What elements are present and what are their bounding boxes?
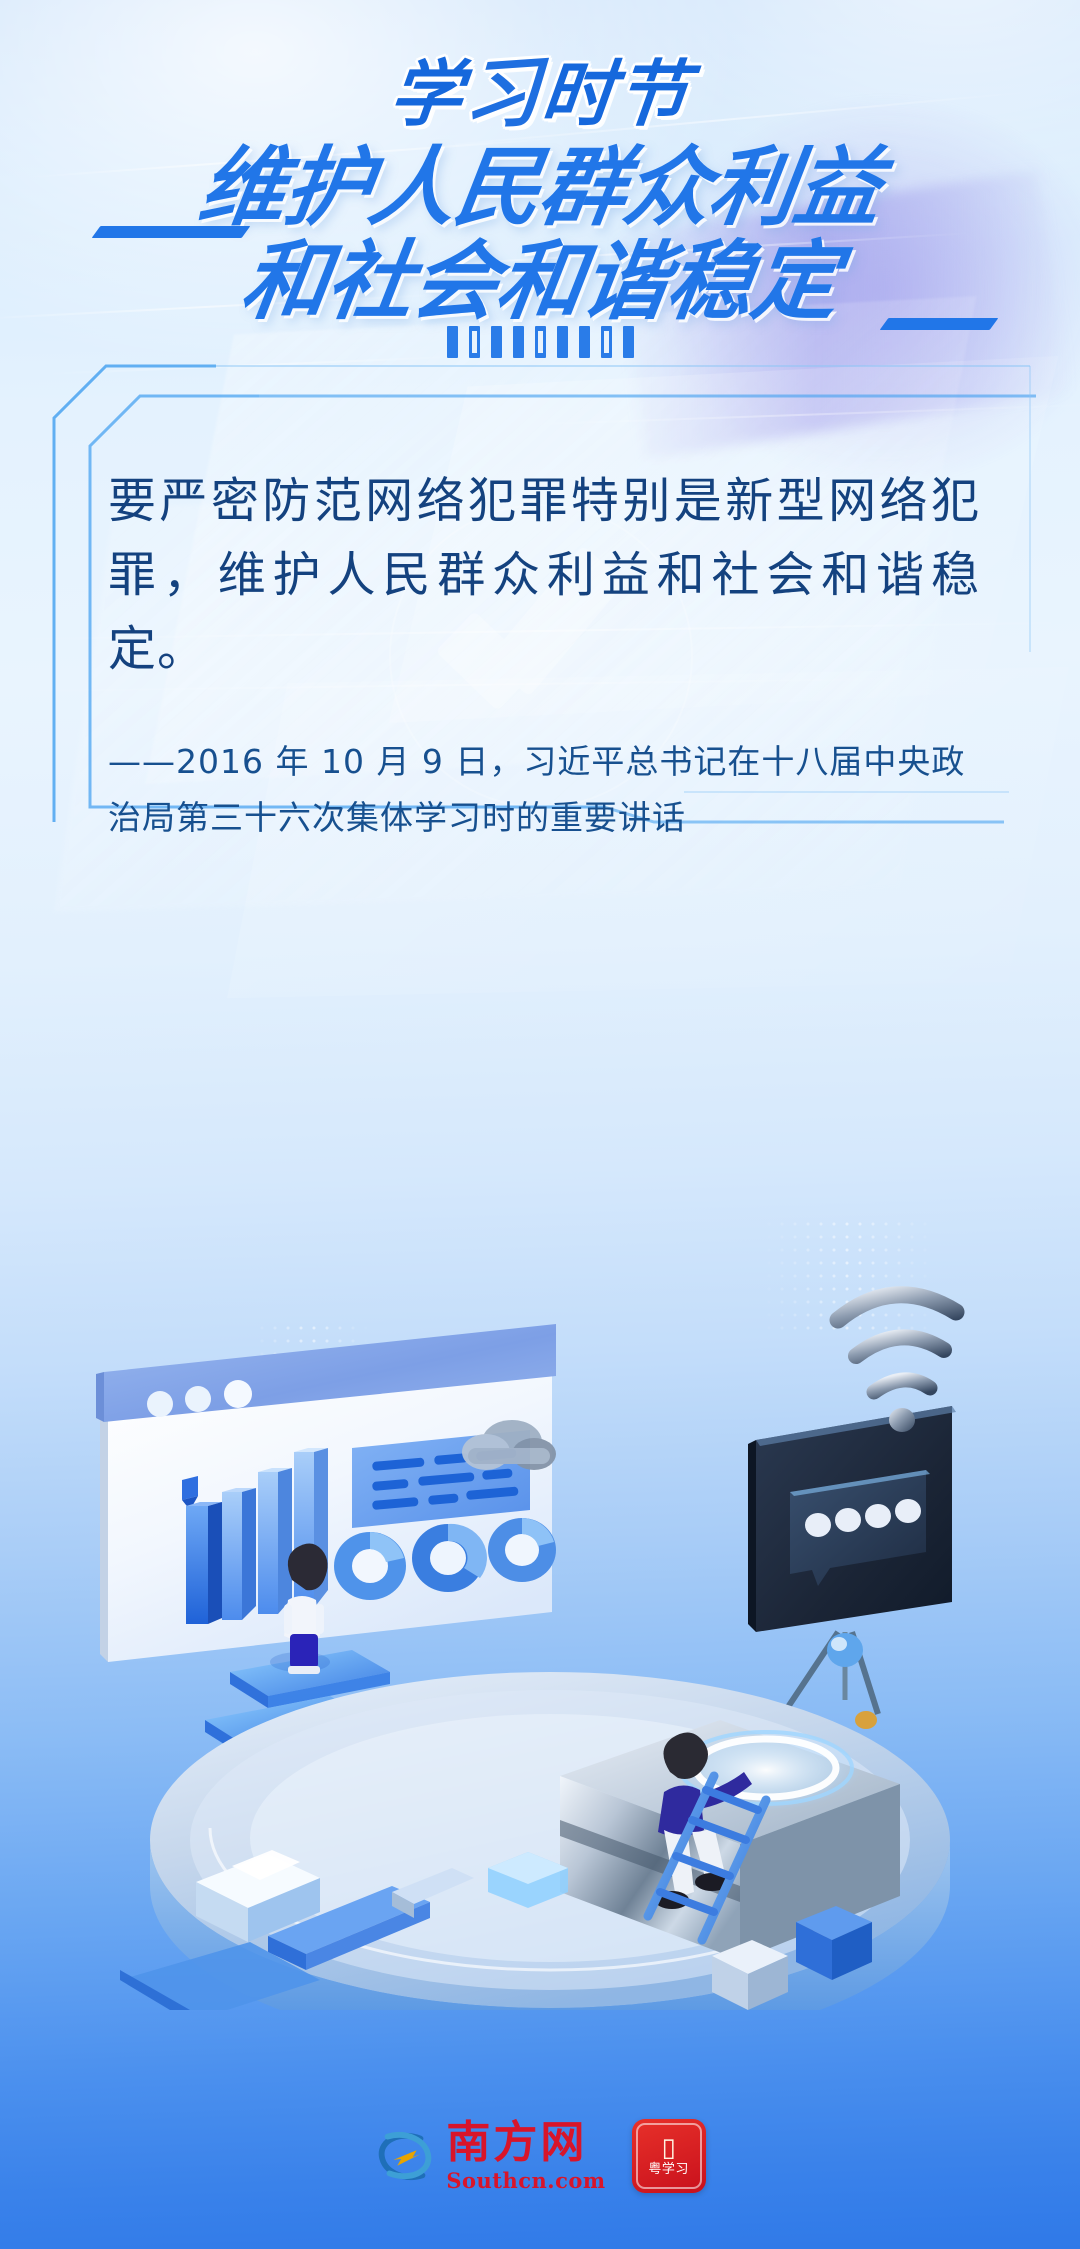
yuexuexi-book-glyph: ▯ [661, 2135, 675, 2161]
page-title: 维护人民群众利益 和社会和谐稳定 [0, 142, 1080, 328]
southcn-logo[interactable]: 南方网 Southcn.com [374, 2120, 605, 2193]
quote-block: 要严密防范网络犯罪特别是新型网络犯罪，维护人民群众利益和社会和谐稳定。 ——20… [108, 416, 980, 879]
brand-header: 学习时节 [0, 48, 1080, 140]
yuexuexi-app-icon[interactable]: ▯ 粤学习 [632, 2119, 706, 2193]
brand-char-shijie: 时节 [538, 52, 695, 136]
illustration: 3D 等距插画：数据看板浏览器窗口、柱状图与环形图、云图标、站立人物、深色聊天气… [0, 1180, 1080, 2010]
yuexuexi-label: 粤学习 [648, 2163, 689, 2177]
person-shoes [288, 1666, 320, 1674]
southcn-chinese-name: 南方网 [446, 2120, 587, 2166]
illustration-alt-text: 3D 等距插画：数据看板浏览器窗口、柱状图与环形图、云图标、站立人物、深色聊天气… [0, 0, 1, 1]
quote-attribution: ——2016 年 10 月 9 日，习近平总书记在十八届中央政治局第三十六次集体… [108, 734, 980, 846]
chat-screen [748, 1406, 956, 1729]
window-dot [224, 1380, 252, 1408]
headline-line-2: 和社会和谐稳定 [0, 236, 1080, 328]
southcn-wordmark: 南方网 Southcn.com [446, 2120, 605, 2193]
headline-line-1: 维护人民群众利益 [0, 142, 1080, 234]
brand-title: 学习时节 [385, 48, 695, 140]
donut-chart [488, 1518, 556, 1582]
headline-underline-left [92, 226, 251, 238]
southcn-domain: Southcn.com [446, 2169, 605, 2193]
yuexuexi-icon-inner: ▯ 粤学习 [636, 2123, 702, 2189]
bar [258, 1472, 278, 1614]
window-dot [147, 1391, 173, 1417]
poster-root: 学习时节 维护人民群众利益 和社会和谐稳定 [0, 0, 1080, 2249]
footer: 南方网 Southcn.com ▯ 粤学习 [0, 2119, 1080, 2193]
person-legs [290, 1634, 318, 1668]
bar [186, 1506, 208, 1624]
quote-body: 要严密防范网络犯罪特别是新型网络犯罪，维护人民群众利益和社会和谐稳定。 [108, 464, 980, 686]
southcn-swirl-icon [374, 2125, 436, 2187]
browser-dashboard-window [96, 1324, 556, 1662]
brand-char-xue: 学 [386, 52, 469, 136]
brand-char-xi: 习 [460, 42, 547, 145]
donut-chart [334, 1532, 406, 1600]
bar [222, 1492, 242, 1620]
window-dot [185, 1386, 211, 1412]
